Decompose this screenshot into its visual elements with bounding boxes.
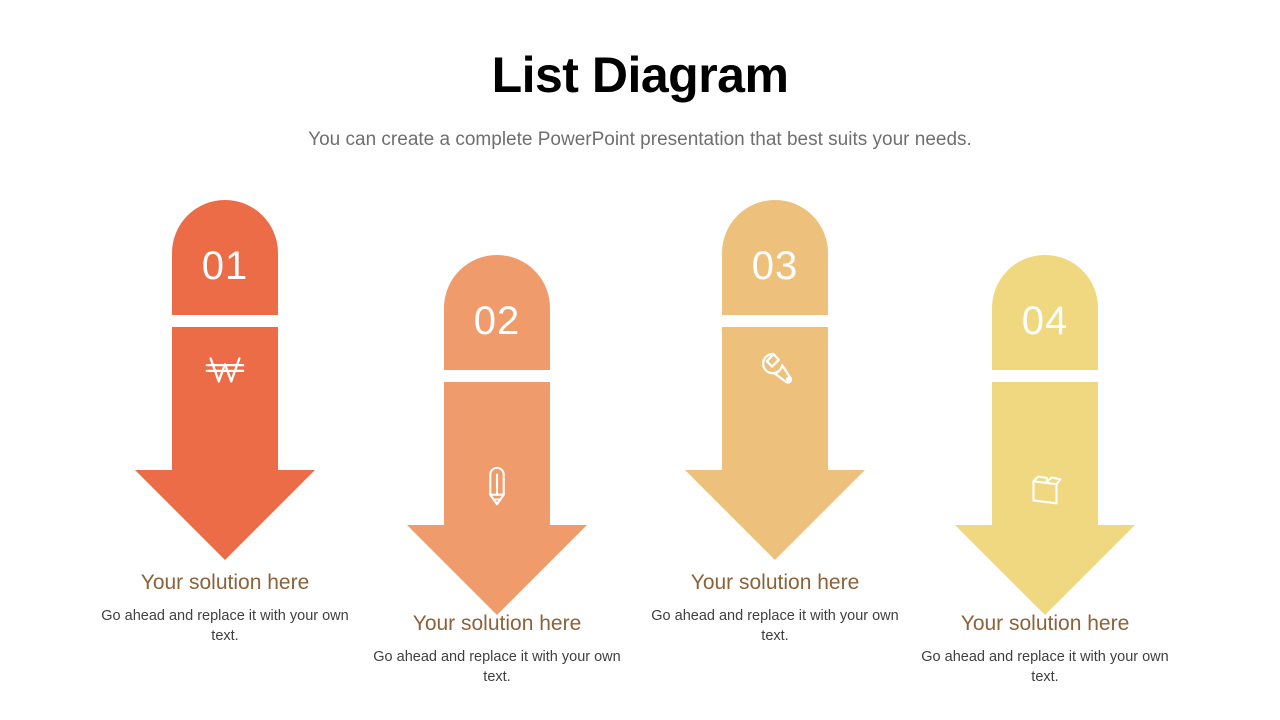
page-title: List Diagram [0, 0, 1280, 103]
step-body-3: Go ahead and replace it with your own te… [645, 595, 905, 646]
step-caption-4: Your solution here Go ahead and replace … [915, 611, 1175, 687]
list-diagram: 01 Your solution here Go ahead and repla… [0, 190, 1280, 720]
down-arrow-icon [645, 200, 905, 580]
slide-header: List Diagram You can create a complete P… [0, 0, 1280, 152]
page-subtitle: You can create a complete PowerPoint pre… [0, 103, 1280, 152]
step-item-3[interactable]: 03 Your solution here Go ahead and repla… [645, 190, 905, 720]
step-body-4: Go ahead and replace it with your own te… [915, 636, 1175, 687]
step-caption-3: Your solution here Go ahead and replace … [645, 570, 905, 646]
down-arrow-icon [367, 255, 627, 635]
arrow-shape-2[interactable] [367, 255, 627, 635]
arrow-shape-3[interactable] [645, 200, 905, 580]
step-title-1: Your solution here [95, 570, 355, 595]
step-caption-2: Your solution here Go ahead and replace … [367, 611, 627, 687]
step-title-4: Your solution here [915, 611, 1175, 636]
step-item-4[interactable]: 04 Your solution here Go ahead and repla… [915, 190, 1175, 720]
step-caption-1: Your solution here Go ahead and replace … [95, 570, 355, 646]
step-title-3: Your solution here [645, 570, 905, 595]
step-item-1[interactable]: 01 Your solution here Go ahead and repla… [95, 190, 355, 720]
step-item-2[interactable]: 02 Your solution here Go ahead and repla… [367, 190, 627, 720]
step-body-2: Go ahead and replace it with your own te… [367, 636, 627, 687]
arrow-shape-1[interactable] [95, 200, 355, 580]
down-arrow-icon [915, 255, 1175, 635]
step-title-2: Your solution here [367, 611, 627, 636]
step-body-1: Go ahead and replace it with your own te… [95, 595, 355, 646]
down-arrow-icon [95, 200, 355, 580]
arrow-shape-4[interactable] [915, 255, 1175, 635]
